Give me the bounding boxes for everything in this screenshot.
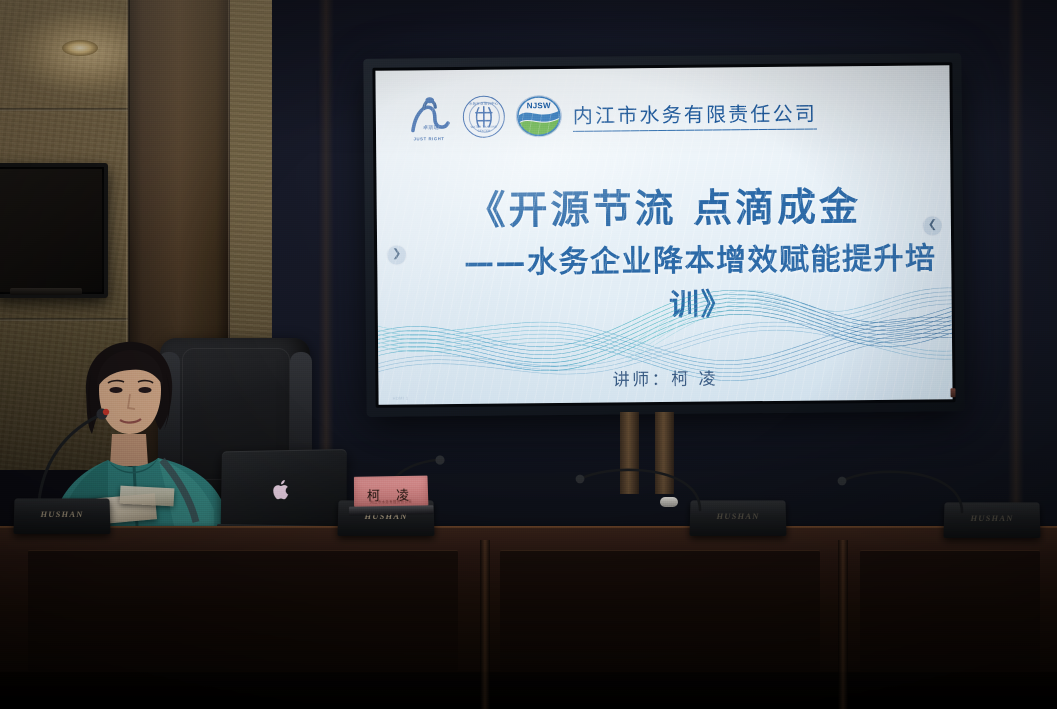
conference-desk xyxy=(0,528,1057,709)
chevron-right-icon[interactable]: ❯ xyxy=(386,244,407,265)
main-display[interactable]: 卓斯瑞 JUST RIGHT 水务行业培训中心 xyxy=(363,53,964,417)
gooseneck-microphone xyxy=(556,462,706,512)
wall-mullion xyxy=(1008,0,1024,540)
just-right-logo-cn: 卓斯瑞 xyxy=(423,124,439,131)
just-right-logo: 卓斯瑞 JUST RIGHT xyxy=(406,94,452,140)
paper-sheet xyxy=(120,486,175,507)
desk-lower-shadow xyxy=(0,672,1057,709)
laptop-lid xyxy=(221,449,347,527)
wall-monitor-left[interactable] xyxy=(0,163,108,298)
panel-osd-label: HDMI 1 xyxy=(393,395,409,400)
desk-front-panel xyxy=(860,550,1040,671)
desk-panel-seam xyxy=(838,540,848,709)
ceiling-downlight xyxy=(62,40,98,56)
just-right-logo-label: JUST RIGHT xyxy=(406,136,452,141)
nameplate-card: 柯 凌 内江市水务有限责任公司 xyxy=(354,476,428,507)
microphone-brand-label: HUSHAN xyxy=(690,511,786,521)
microphone-brand-label: HUSHAN xyxy=(14,509,110,519)
njsw-logo: NJSW xyxy=(516,95,562,137)
conference-room-scene: 卓斯瑞 JUST RIGHT 水务行业培训中心 xyxy=(0,0,1057,709)
presentation-slide: 卓斯瑞 JUST RIGHT 水务行业培训中心 xyxy=(375,65,952,404)
training-center-logo-bottom-text: WATER TRAINING CENTER xyxy=(464,125,504,133)
nameplate: 柯 凌 内江市水务有限责任公司 xyxy=(352,474,431,513)
water-training-center-logo: 水务行业培训中心 WATER TRAINING CENTER xyxy=(463,96,505,138)
desk-front-panel xyxy=(28,550,458,671)
desk-remote[interactable] xyxy=(660,497,678,507)
microphone-base[interactable]: HUSHAN xyxy=(13,498,110,534)
desk-front-panel xyxy=(500,550,820,671)
desk-panel-seam xyxy=(480,540,490,709)
slide-title-main: 《开源节流 点滴成金 xyxy=(376,175,951,237)
slide-header: 卓斯瑞 JUST RIGHT 水务行业培训中心 xyxy=(406,91,818,141)
wall-monitor-screen xyxy=(0,169,102,292)
macbook-laptop[interactable] xyxy=(221,449,347,527)
njsw-logo-text: NJSW xyxy=(517,101,561,110)
display-bezel: 卓斯瑞 JUST RIGHT 水务行业培训中心 xyxy=(372,62,955,408)
gooseneck-microphone xyxy=(820,464,970,514)
company-name: 内江市水务有限责任公司 xyxy=(573,98,817,132)
microphone-brand-label: HUSHAN xyxy=(944,513,1040,523)
nameplate-holder xyxy=(349,505,434,516)
chevron-left-icon[interactable]: ❮ xyxy=(922,215,943,236)
apple-logo-icon xyxy=(273,478,292,500)
nameplate-subtext: 内江市水务有限责任公司 xyxy=(354,498,428,504)
panel-power-indicator xyxy=(950,388,955,397)
wall-monitor-stand xyxy=(10,288,82,295)
